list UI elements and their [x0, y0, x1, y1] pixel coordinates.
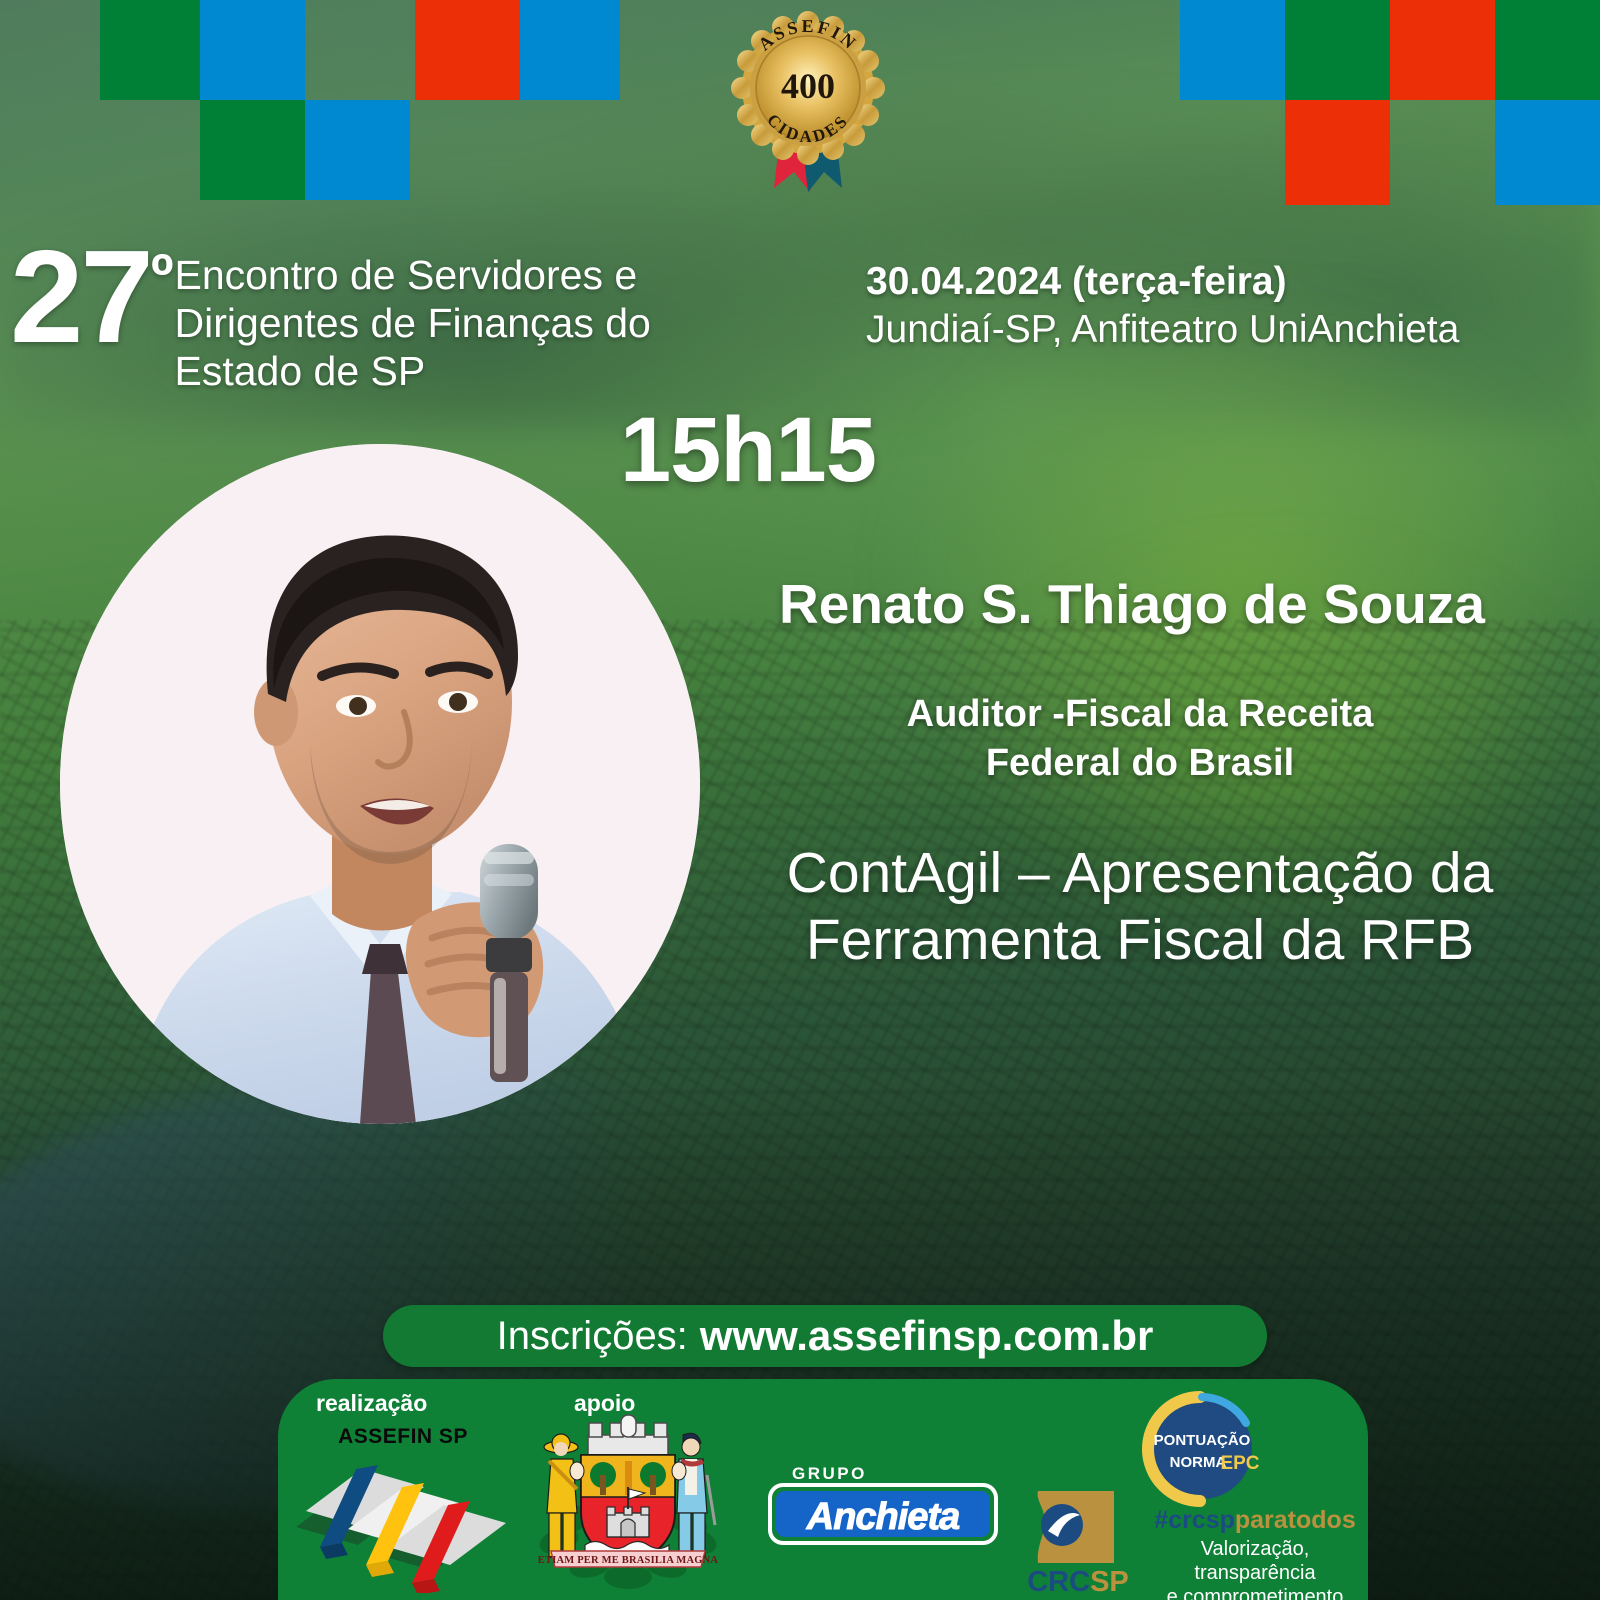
speaker-role: Auditor -Fiscal da Receita Federal do Br… — [700, 690, 1580, 789]
checker-square — [415, 0, 520, 100]
crc-tagline-line-2: e comprometimento — [1140, 1585, 1370, 1600]
checker-square — [200, 100, 305, 200]
checker-square — [200, 0, 305, 100]
crc-hashtag: #crcspparatodos — [1140, 1507, 1370, 1535]
caption-realizacao: realização — [316, 1390, 427, 1417]
date-venue-block: 30.04.2024 (terça-feira) Jundiaí-SP, Anf… — [866, 258, 1459, 353]
epc-line-2b: EPC — [1220, 1453, 1259, 1474]
speaker-role-line-1: Auditor -Fiscal da Receita — [700, 690, 1580, 739]
talk-title: ContAgil – Apresentação da Ferramenta Fi… — [690, 840, 1590, 975]
crc-letters-gold: SP — [1090, 1566, 1129, 1597]
checker-square — [305, 100, 410, 200]
grupo-anchieta-logo: GRUPO Anchieta — [768, 1459, 998, 1554]
edition-suffix: º — [151, 242, 171, 311]
seal-number: 400 — [781, 66, 835, 106]
assefin-sp-logo — [288, 1423, 518, 1593]
registration-bar[interactable]: Inscrições: www.assefinsp.com.br — [383, 1305, 1267, 1367]
checker-square — [520, 0, 620, 100]
event-venue: Jundiaí-SP, Anfiteatro UniAnchieta — [866, 306, 1459, 354]
svg-text:CRCSP: CRCSP — [1027, 1566, 1129, 1597]
assefin-400-cidades-seal: ASSEFIN CIDADES 400 — [728, 2, 888, 202]
anchieta-main-word: Anchieta — [806, 1496, 960, 1538]
checker-square — [1180, 0, 1285, 100]
checker-square — [1495, 0, 1600, 100]
crc-sp-logo: CRCSP — [1018, 1487, 1138, 1597]
checker-square — [100, 0, 200, 100]
checker-square — [1285, 0, 1390, 100]
event-title: Encontro de Servidores e Dirigentes de F… — [174, 236, 734, 396]
crc-hashtag-a: #crcsp — [1154, 1506, 1235, 1534]
crc-tagline: #crcspparatodos Valorização, transparênc… — [1140, 1507, 1370, 1600]
event-poster: ASSEFIN CIDADES 400 27º Encontro de Serv… — [0, 0, 1600, 1600]
epc-line-2a: NORMA — [1170, 1454, 1227, 1471]
registration-label: Inscrições: — [497, 1314, 688, 1359]
headline-block: 27º Encontro de Servidores e Dirigentes … — [10, 236, 734, 396]
crc-tagline-sub: Valorização, transparência e comprometim… — [1140, 1537, 1370, 1600]
event-date: 30.04.2024 (terça-feira) — [866, 258, 1459, 306]
speaker-name: Renato S. Thiago de Souza — [672, 572, 1592, 636]
edition-ordinal: 27º — [10, 236, 170, 357]
pontuacao-norma-epc-badge: PONTUAÇÃO NORMA EPC — [1140, 1387, 1260, 1507]
jundiai-motto: ETIAM PER ME BRASILIA MAGNA — [538, 1555, 719, 1566]
registration-url[interactable]: www.assefinsp.com.br — [700, 1312, 1154, 1360]
crc-tagline-line-1: Valorização, transparência — [1140, 1537, 1370, 1586]
crc-hashtag-b: paratodos — [1235, 1506, 1356, 1534]
checker-square — [1495, 100, 1600, 205]
edition-number: 27 — [10, 223, 151, 370]
speaker-role-line-2: Federal do Brasil — [700, 739, 1580, 788]
speaker-photo — [60, 444, 700, 1124]
epc-line-1: PONTUAÇÃO — [1154, 1431, 1251, 1449]
sponsor-panel: realização apoio ASSEFIN SP — [278, 1379, 1368, 1600]
checker-square — [1390, 0, 1495, 100]
jundiai-coat-of-arms: ETIAM PER ME BRASILIA MAGNA — [533, 1409, 723, 1594]
checker-square — [1285, 100, 1390, 205]
crc-letters-dark: CRC — [1027, 1566, 1090, 1597]
anchieta-top-word: GRUPO — [792, 1464, 867, 1483]
